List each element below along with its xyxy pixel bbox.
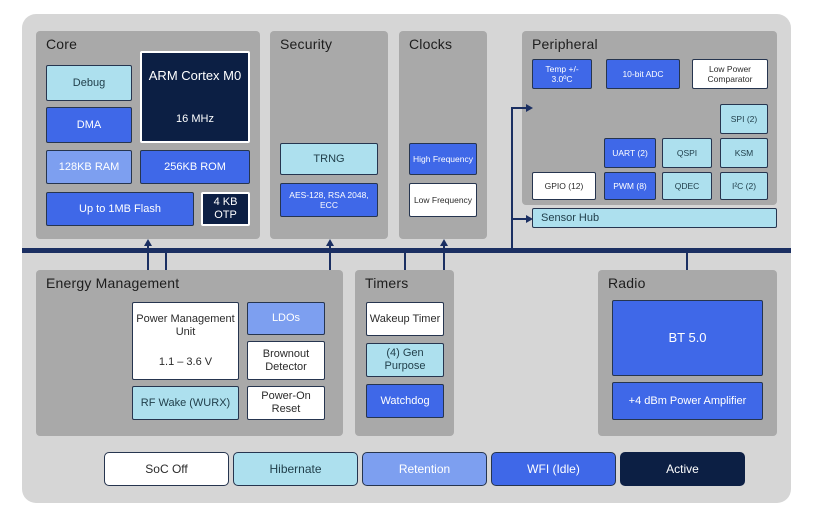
legend-item-hibernate[interactable]: Hibernate (233, 452, 358, 486)
block-arm-cortex-m0[interactable]: ARM Cortex M0 16 MHz (140, 51, 250, 143)
block-brownout-detector[interactable]: Brownout Detector (247, 341, 325, 380)
block-power-amplifier[interactable]: +4 dBm Power Amplifier (612, 382, 763, 420)
block-pwm[interactable]: PWM (8) (604, 172, 656, 200)
block-high-frequency[interactable]: High Frequency (409, 143, 477, 175)
bus-arrow-to-clocks (440, 239, 447, 273)
block-trng[interactable]: TRNG (280, 143, 378, 175)
block-rf-wake[interactable]: RF Wake (WURX) (132, 386, 239, 420)
group-security: Security TRNG AES-128, RSA 2048, ECC (270, 31, 388, 239)
block-qdec[interactable]: QDEC (662, 172, 712, 200)
block-power-management-unit[interactable]: Power Management Unit 1.1 – 3.6 V (132, 302, 239, 380)
group-energy-management-title: Energy Management (46, 275, 179, 291)
block-flash[interactable]: Up to 1MB Flash (46, 192, 194, 226)
group-clocks-title: Clocks (409, 36, 452, 52)
block-rom[interactable]: 256KB ROM (140, 150, 250, 184)
block-temp-sensor[interactable]: Temp +/- 3.0ºC (532, 59, 592, 89)
block-arm-cortex-m0-name: ARM Cortex M0 (144, 68, 246, 83)
block-bt[interactable]: BT 5.0 (612, 300, 763, 376)
block-crypto[interactable]: AES-128, RSA 2048, ECC (280, 183, 378, 217)
soc-chip-container: Core Debug DMA ARM Cortex M0 16 MHz 128K… (22, 14, 791, 503)
block-pmu-voltage: 1.1 – 3.6 V (135, 356, 236, 369)
group-peripheral: Peripheral Temp +/- 3.0ºC 10-bit ADC Low… (522, 31, 777, 205)
block-wakeup-timer[interactable]: Wakeup Timer (366, 302, 444, 336)
group-core-title: Core (46, 36, 77, 52)
group-core: Core Debug DMA ARM Cortex M0 16 MHz 128K… (36, 31, 260, 239)
bus-arrow-to-sensor-hub (511, 215, 533, 220)
block-pmu-name: Power Management Unit (135, 313, 236, 339)
block-gen-purpose-timer[interactable]: (4) Gen Purpose (366, 343, 444, 377)
block-i2c[interactable]: I²C (2) (720, 172, 768, 200)
block-qspi[interactable]: QSPI (662, 138, 712, 168)
group-radio-title: Radio (608, 275, 646, 291)
block-otp[interactable]: 4 KB OTP (201, 192, 250, 226)
group-timers: Timers Wakeup Timer (4) Gen Purpose Watc… (355, 270, 454, 436)
bus-arrow-to-peripheral (511, 104, 533, 109)
block-ksm[interactable]: KSM (720, 138, 768, 168)
block-gpio[interactable]: GPIO (12) (532, 172, 596, 200)
legend-item-active[interactable]: Active (620, 452, 745, 486)
block-low-frequency[interactable]: Low Frequency (409, 183, 477, 217)
legend-item-wfi-idle[interactable]: WFI (Idle) (491, 452, 616, 486)
block-debug[interactable]: Debug (46, 65, 132, 101)
legend-item-retention[interactable]: Retention (362, 452, 487, 486)
block-power-on-reset[interactable]: Power-On Reset (247, 386, 325, 420)
block-ram[interactable]: 128KB RAM (46, 150, 132, 184)
bus-arrow-to-core (144, 239, 151, 273)
block-low-power-comparator[interactable]: Low Power Comparator (692, 59, 768, 89)
group-energy-management: Energy Management Power Management Unit … (36, 270, 343, 436)
block-sensor-hub[interactable]: Sensor Hub (532, 208, 777, 228)
group-clocks: Clocks High Frequency Low Frequency (399, 31, 487, 239)
legend-item-soc-off[interactable]: SoC Off (104, 452, 229, 486)
group-peripheral-title: Peripheral (532, 36, 598, 52)
group-security-title: Security (280, 36, 332, 52)
block-watchdog[interactable]: Watchdog (366, 384, 444, 418)
block-adc[interactable]: 10-bit ADC (606, 59, 680, 89)
block-spi[interactable]: SPI (2) (720, 104, 768, 134)
bus-arrow-to-security (326, 239, 333, 273)
group-timers-title: Timers (365, 275, 408, 291)
block-ldos[interactable]: LDOs (247, 302, 325, 335)
block-dma[interactable]: DMA (46, 107, 132, 143)
block-uart[interactable]: UART (2) (604, 138, 656, 168)
bus-riser-peripheral (511, 108, 513, 250)
group-radio: Radio BT 5.0 +4 dBm Power Amplifier (598, 270, 777, 436)
block-arm-cortex-m0-speed: 16 MHz (144, 113, 246, 126)
